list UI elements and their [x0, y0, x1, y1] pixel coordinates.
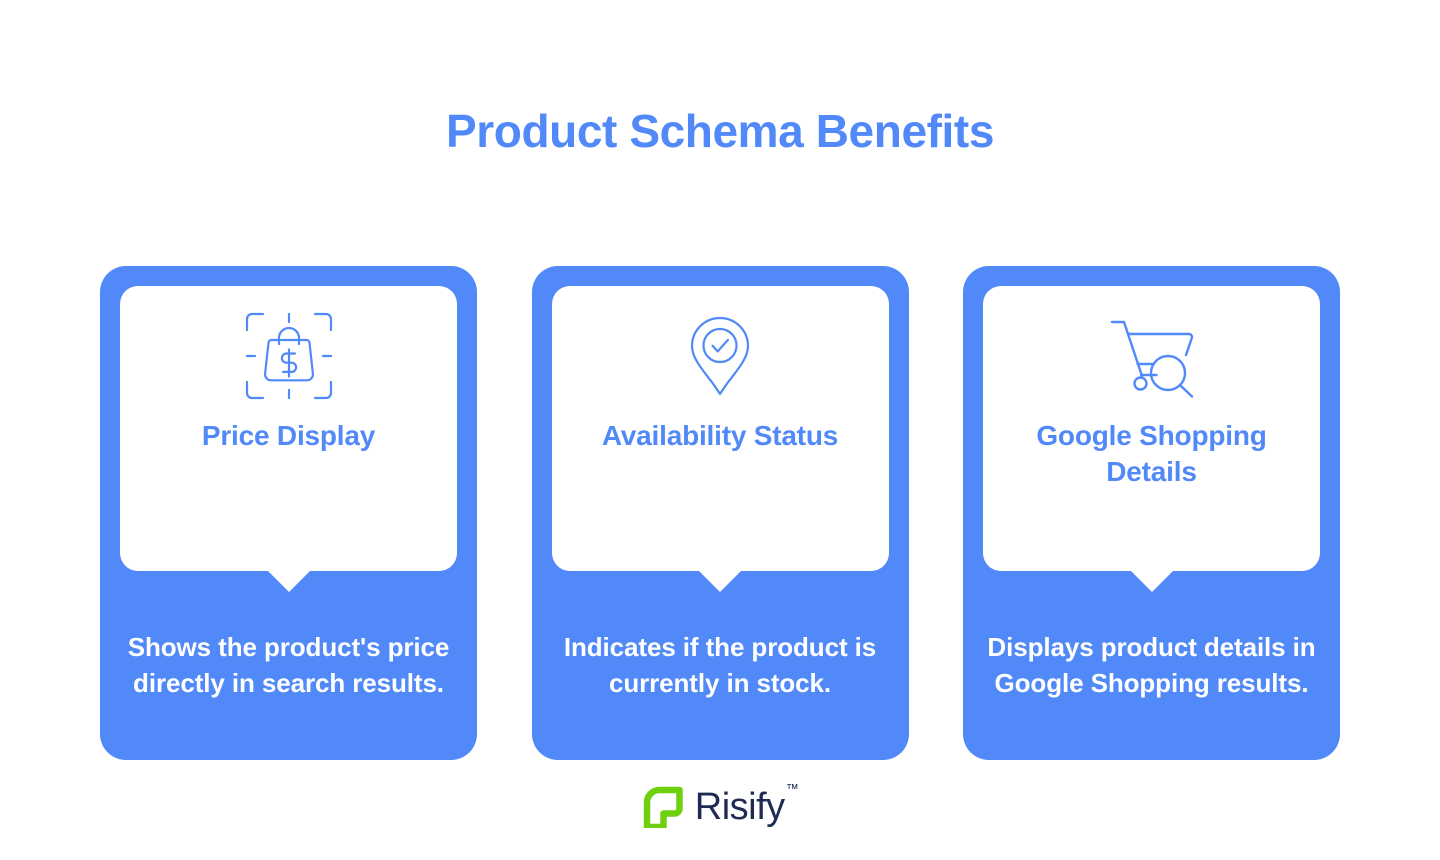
card-title: Google Shopping Details [1002, 418, 1302, 490]
brand-wordmark: Risify™ [695, 786, 797, 828]
card-bubble-panel: Availability Status [552, 286, 889, 571]
benefit-card-availability-status[interactable]: Availability Status Indicates if the pro… [532, 266, 909, 760]
risify-logo-mark-icon [643, 786, 683, 828]
benefit-card-google-shopping-details[interactable]: Google Shopping Details Displays product… [963, 266, 1340, 760]
benefit-cards-row: Price Display Shows the product's price … [100, 266, 1340, 760]
benefit-card-price-display[interactable]: Price Display Shows the product's price … [100, 266, 477, 760]
card-bubble-panel: Google Shopping Details [983, 286, 1320, 571]
card-description: Displays product details in Google Shopp… [983, 629, 1320, 701]
location-pin-check-icon [672, 308, 768, 404]
card-title: Availability Status [570, 418, 870, 454]
footer-brand[interactable]: Risify™ [0, 786, 1440, 828]
card-title: Price Display [139, 418, 439, 454]
card-description: Shows the product's price directly in se… [120, 629, 457, 701]
page-title: Product Schema Benefits [0, 100, 1440, 162]
brand-name: Risify [695, 786, 785, 828]
card-bubble-panel: Price Display [120, 286, 457, 571]
price-tag-bag-scan-icon [241, 308, 337, 404]
card-description: Indicates if the product is currently in… [552, 629, 889, 701]
infographic-canvas: Product Schema Benefits [0, 0, 1440, 860]
trademark-symbol: ™ [786, 781, 799, 796]
shopping-cart-search-icon [1104, 308, 1200, 404]
